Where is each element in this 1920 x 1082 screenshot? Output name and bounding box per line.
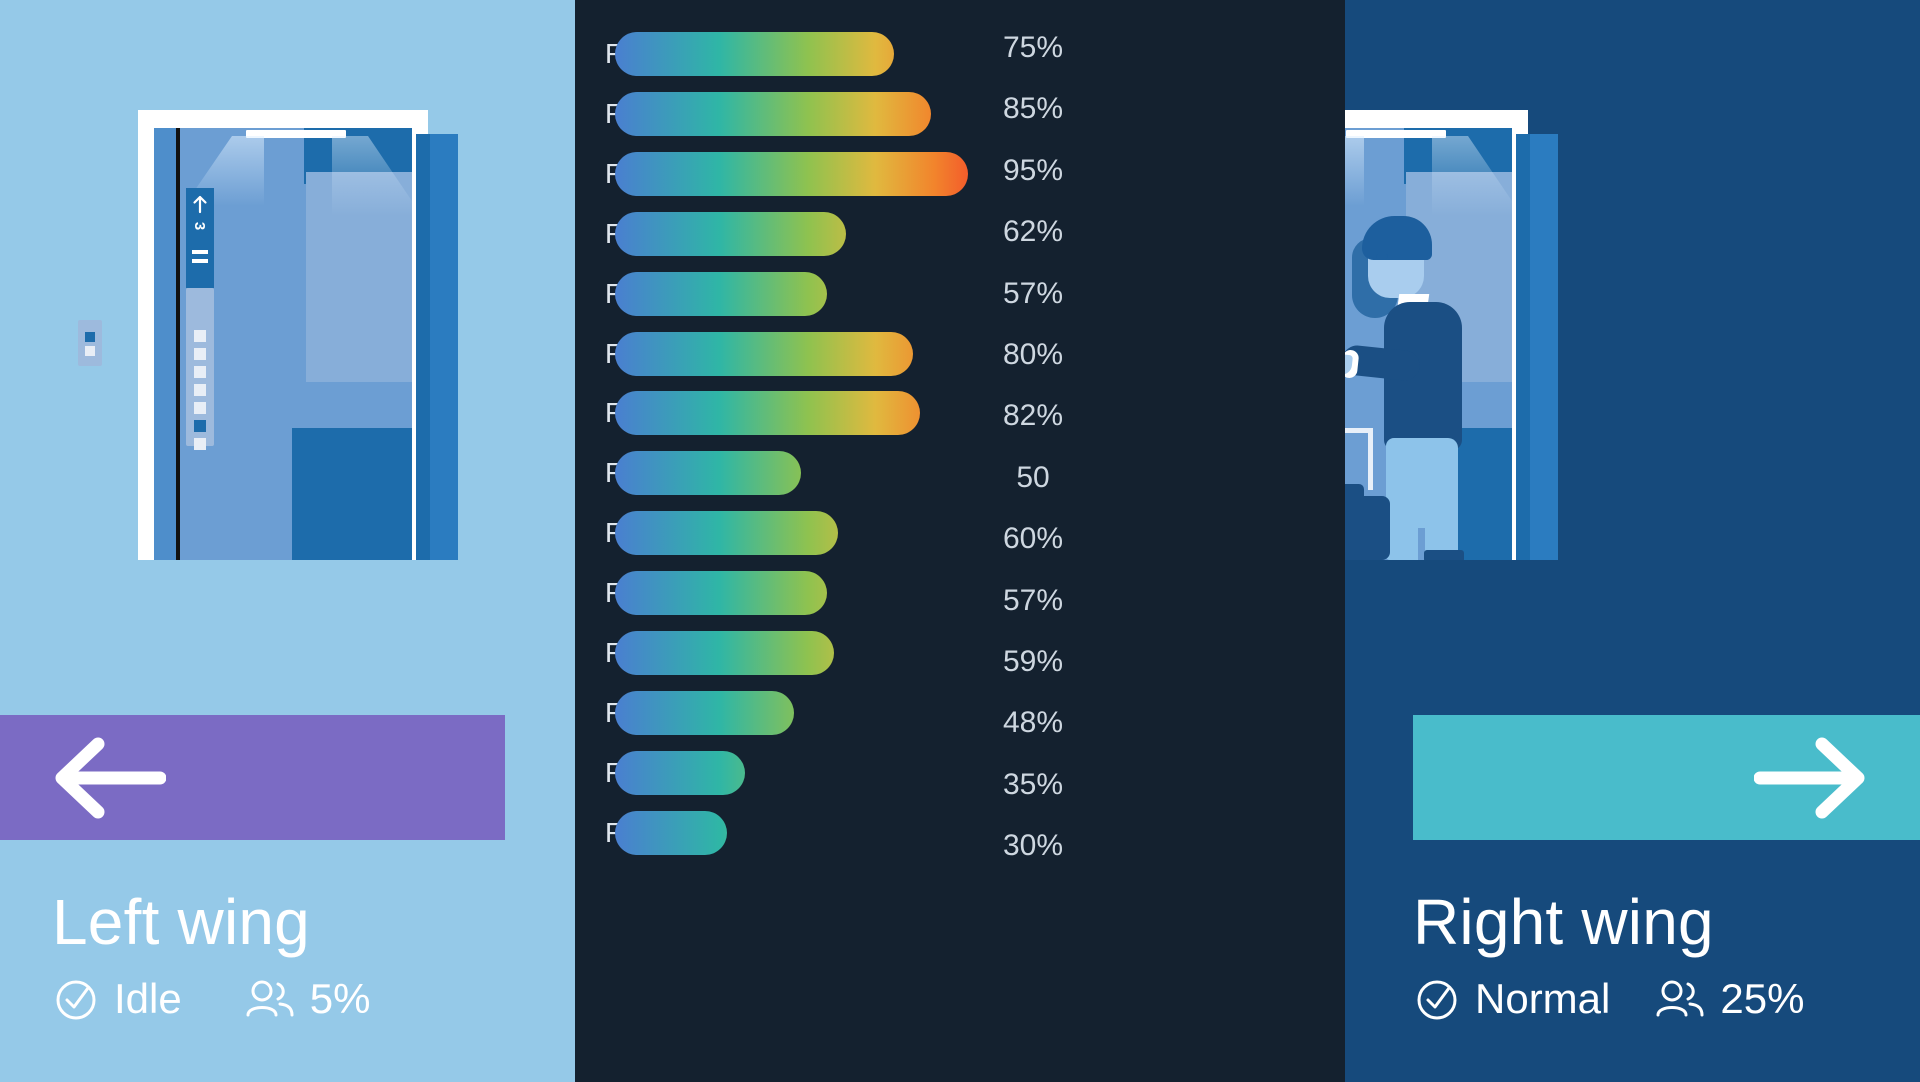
left-wing-status-label: Idle <box>114 978 182 1020</box>
suitcase-handle-top <box>1345 428 1373 433</box>
chart-bar[interactable] <box>615 571 827 615</box>
chart-bar-value: 48% <box>963 708 1103 738</box>
chart-bar-value: 62% <box>963 217 1103 247</box>
chart-bar[interactable] <box>615 811 727 855</box>
chart-bar-value: 57% <box>963 279 1103 309</box>
right-wing-arrow-bar[interactable] <box>1413 715 1920 840</box>
chart-bar[interactable] <box>615 212 846 256</box>
right-wing-occupancy: 25% <box>1654 977 1804 1021</box>
cab-button-active[interactable] <box>194 420 206 432</box>
chart-bar[interactable] <box>615 691 794 735</box>
chart-bar-value: 30% <box>963 831 1103 861</box>
left-wing-occupancy-label: 5% <box>310 978 371 1020</box>
people-icon <box>1654 977 1706 1021</box>
chart-bar-value: 60% <box>963 524 1103 554</box>
chart-bar[interactable] <box>615 631 834 675</box>
left-wing-arrow-bar[interactable] <box>0 715 505 840</box>
hall-call-box[interactable] <box>78 320 102 366</box>
chart-bar[interactable] <box>615 332 913 376</box>
right-wing-title: Right wing <box>1413 890 1714 954</box>
passenger-eye <box>1376 254 1388 259</box>
check-circle-icon <box>1413 975 1461 1023</box>
right-wing-status: Normal <box>1413 975 1610 1023</box>
rolling-suitcase <box>1345 428 1394 560</box>
cab-light-glow-left <box>1345 136 1364 206</box>
cab-button[interactable] <box>194 366 206 378</box>
cab-wall-lower-right <box>292 428 412 560</box>
chart-bar[interactable] <box>615 272 827 316</box>
chart-bar-value: 75% <box>963 33 1103 63</box>
indicator-bar-1 <box>192 250 208 254</box>
elevator-cab-interior: 3 <box>154 128 412 560</box>
suitcase-handle-right <box>1368 428 1373 490</box>
cab-button[interactable] <box>194 330 206 342</box>
floor-occupancy-bar-chart: Floor 1475%Floor 1385%Floor 1295%Floor 1… <box>575 0 1345 1082</box>
right-wing-stats: Normal 25% <box>1413 975 1804 1023</box>
cab-button-strip[interactable] <box>186 288 214 446</box>
elevator-shaft-column-dark <box>1516 134 1530 560</box>
left-elevator-illustration: 3 <box>100 110 500 560</box>
indicator-bar-2 <box>192 259 208 263</box>
chart-bar-value: 59% <box>963 647 1103 677</box>
elevator-shaft-column <box>1528 134 1558 560</box>
cab-button[interactable] <box>194 402 206 414</box>
arrow-left-icon[interactable] <box>48 736 166 820</box>
indicator-floor-digit: 3 <box>192 216 208 236</box>
dashboard-root: 3 <box>0 0 1920 1082</box>
chart-bar[interactable] <box>615 391 920 435</box>
cab-door-leaf-left <box>154 128 176 560</box>
chart-bar-value: 80% <box>963 340 1103 370</box>
floor-occupancy-chart-panel: Floor 1475%Floor 1385%Floor 1295%Floor 1… <box>575 0 1345 1082</box>
chart-bar-value: 82% <box>963 401 1103 431</box>
cab-door-seam <box>176 128 180 560</box>
left-wing-occupancy: 5% <box>244 977 371 1021</box>
chart-bar-value: 85% <box>963 94 1103 124</box>
hall-call-down-button[interactable] <box>85 346 95 356</box>
cab-button[interactable] <box>194 348 206 360</box>
passenger-hair <box>1362 216 1432 260</box>
svg-text:3: 3 <box>192 222 208 230</box>
chart-bar[interactable] <box>615 32 894 76</box>
passenger-shoe <box>1424 550 1464 560</box>
indicator-up-arrow-icon <box>191 194 209 214</box>
right-wing-occupancy-label: 25% <box>1720 978 1804 1020</box>
left-wing-status: Idle <box>52 975 182 1023</box>
suitcase-body <box>1345 496 1390 560</box>
people-icon <box>244 977 296 1021</box>
arrow-right-icon[interactable] <box>1754 736 1872 820</box>
cab-button[interactable] <box>194 384 206 396</box>
hall-call-up-button[interactable] <box>85 332 95 342</box>
chart-bar[interactable] <box>615 152 968 196</box>
chart-bar[interactable] <box>615 451 801 495</box>
right-wing-status-label: Normal <box>1475 978 1610 1020</box>
elevator-shaft-column <box>428 134 458 560</box>
cab-button[interactable] <box>194 438 206 450</box>
chart-bar-value: 95% <box>963 156 1103 186</box>
left-wing-panel: 3 <box>0 0 575 1082</box>
floor-indicator-panel: 3 <box>186 188 214 288</box>
left-wing-title: Left wing <box>52 890 310 954</box>
elevator-cab-interior: 3 <box>1345 128 1512 560</box>
chart-bar[interactable] <box>615 92 931 136</box>
elevator-shaft-column-dark <box>416 134 430 560</box>
chart-bar-value: 50 <box>963 463 1103 493</box>
chart-bar-value: 57% <box>963 586 1103 616</box>
right-elevator-illustration: 3 <box>1345 110 1600 560</box>
left-wing-stats: Idle 5% <box>52 975 370 1023</box>
chart-bar[interactable] <box>615 511 838 555</box>
chart-bar-value: 35% <box>963 770 1103 800</box>
chart-bar[interactable] <box>615 751 745 795</box>
check-circle-icon <box>52 975 100 1023</box>
right-wing-panel: 3 <box>1345 0 1920 1082</box>
